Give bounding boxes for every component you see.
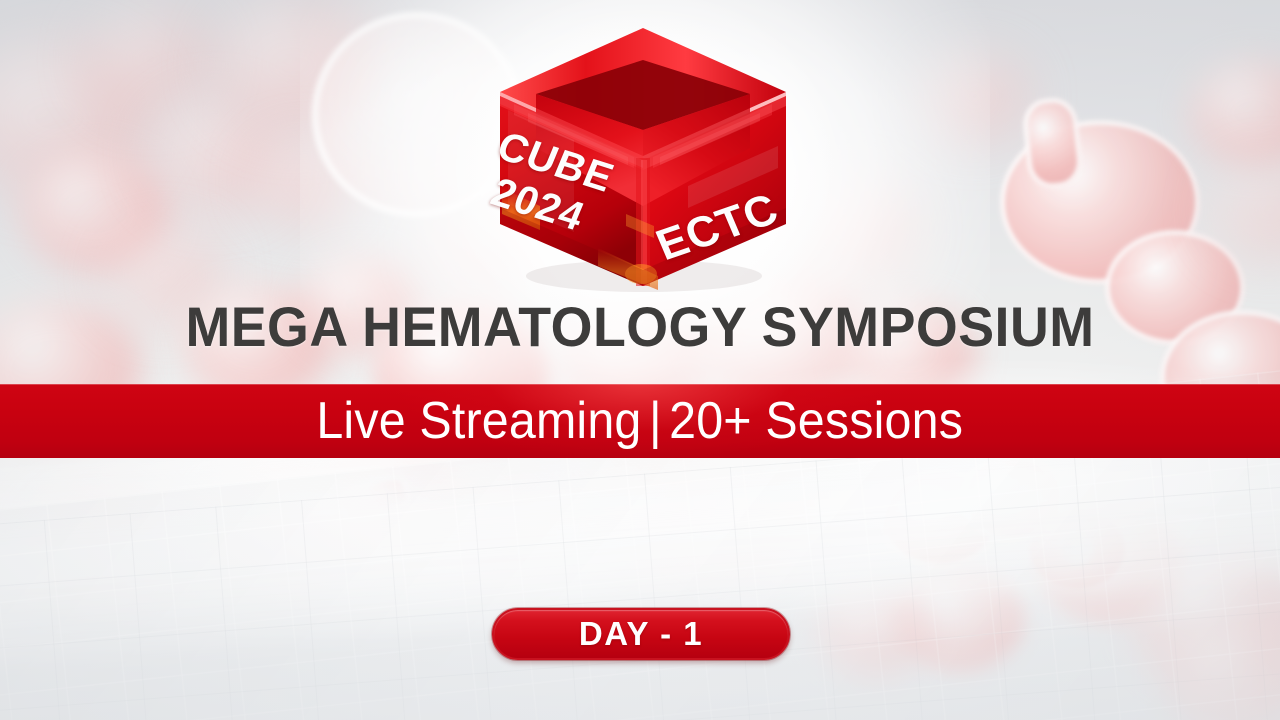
banner-part-one: Live Streaming [317, 392, 642, 450]
banner-separator: | [642, 393, 670, 449]
page-title: MEGA HEMATOLOGY SYMPOSIUM [26, 296, 1255, 358]
day-badge[interactable]: DAY - 1 [492, 608, 790, 660]
cube-logo: CUBE 2024 ECTC [478, 18, 808, 303]
banner-text: Live Streaming|20+ Sessions [317, 393, 964, 449]
banner-part-two: 20+ Sessions [669, 392, 963, 450]
subtitle-banner: Live Streaming|20+ Sessions [0, 384, 1280, 458]
title-card-canvas: CUBE 2024 ECTC MEGA HEMATOLOGY SYMPOSIUM… [0, 0, 1280, 720]
day-badge-label: DAY - 1 [579, 615, 703, 653]
